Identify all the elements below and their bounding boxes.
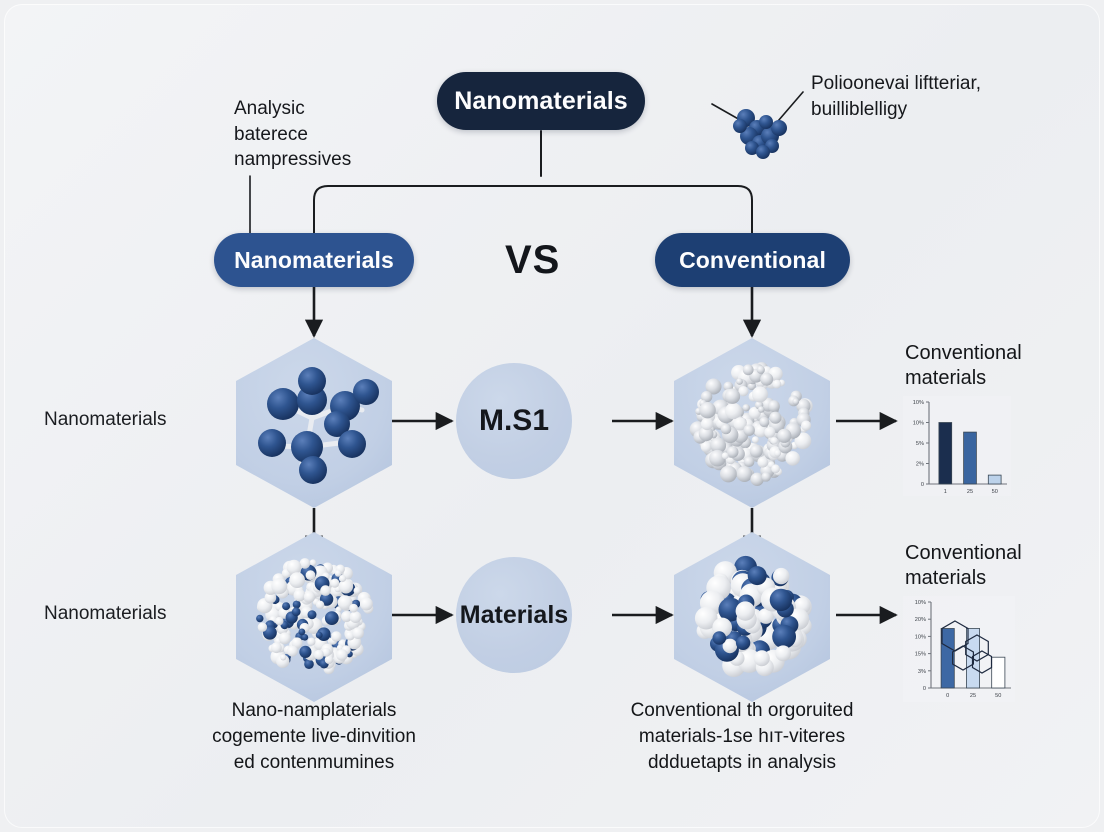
hexagon-panel-fine-mixed <box>236 532 392 702</box>
caption-left: Nano-namplaterials cogemente live-dinvit… <box>178 698 450 777</box>
node-root-label: Nanomaterials <box>454 87 628 116</box>
svg-text:25: 25 <box>967 489 973 495</box>
hexagon-panel-blue-ballstick <box>236 338 392 508</box>
svg-text:15%: 15% <box>915 652 926 658</box>
svg-text:20%: 20% <box>915 617 926 623</box>
note-top-right: Polioonevai liftteriar, builliblelligy <box>811 71 981 122</box>
node-branch-right-label: Conventional <box>679 247 826 274</box>
svg-text:0: 0 <box>946 693 949 699</box>
svg-text:0: 0 <box>921 482 924 488</box>
chart-2-title: Conventional materials <box>905 541 1022 591</box>
diagram-canvas: 10%10%5%2%0 12550 10%20%10%15%3%0 02550 … <box>0 0 1104 832</box>
caption-right: Conventional th orgoruited materials-1se… <box>578 698 906 777</box>
note-top-left: Analysic baterece nampressives <box>234 96 351 173</box>
hexagon-panel-coarse-mixed <box>674 532 830 702</box>
chart-2-bar: 10%20%10%15%3%0 02550 <box>903 596 1015 702</box>
svg-text:3%: 3% <box>918 669 926 675</box>
hexagon-panel-white-dense <box>674 338 830 508</box>
svg-text:25: 25 <box>970 693 976 699</box>
svg-text:50: 50 <box>992 489 998 495</box>
svg-text:50: 50 <box>995 693 1001 699</box>
node-root-nanomaterials[interactable]: Nanomaterials <box>437 72 645 130</box>
svg-text:10%: 10% <box>913 400 924 406</box>
row-1-side-label: Nanomaterials <box>44 409 167 431</box>
node-branch-nanomaterials[interactable]: Nanomaterials <box>214 233 414 287</box>
chart-1-bar: 10%10%5%2%0 12550 <box>903 396 1011 496</box>
svg-text:1: 1 <box>944 489 947 495</box>
svg-text:5%: 5% <box>916 441 924 447</box>
row-2-side-label: Nanomaterials <box>44 603 167 625</box>
svg-text:10%: 10% <box>915 600 926 606</box>
process-circle-row-1-label: M.S1 <box>479 404 549 438</box>
svg-text:2%: 2% <box>916 462 924 468</box>
process-circle-row-2[interactable]: Materials <box>456 557 572 673</box>
versus-label: VS <box>505 238 560 283</box>
process-circle-row-2-label: Materials <box>460 601 568 630</box>
svg-text:0: 0 <box>923 686 926 692</box>
molecule-chain-icon <box>733 109 787 159</box>
chart-1-title: Conventional materials <box>905 341 1022 391</box>
node-branch-conventional[interactable]: Conventional <box>655 233 850 287</box>
svg-text:10%: 10% <box>915 634 926 640</box>
process-circle-row-1[interactable]: M.S1 <box>456 363 572 479</box>
svg-text:10%: 10% <box>913 421 924 427</box>
node-branch-left-label: Nanomaterials <box>234 247 394 274</box>
